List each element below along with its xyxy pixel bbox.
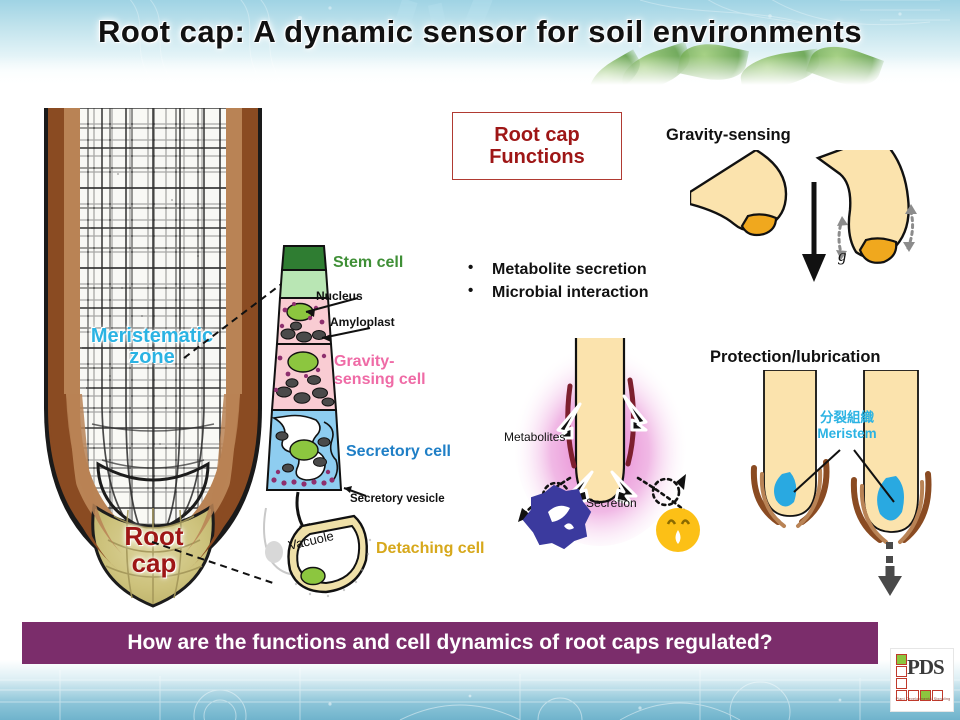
label-amyloplast: Amyloplast: [330, 316, 395, 329]
header-banner: Root cap: A dynamic sensor for soil envi…: [0, 0, 960, 90]
slide: Root cap: A dynamic sensor for soil envi…: [0, 0, 960, 720]
logo-square: [896, 666, 907, 677]
logo-square: [896, 678, 907, 689]
gravity-symbol: g: [838, 246, 847, 266]
label-gravity-sensing-cell: Gravity- sensing cell: [334, 353, 426, 388]
protection-lubrication-illustration: [742, 370, 960, 600]
panel-title-protection-lubrication: Protection/lubrication: [710, 348, 881, 367]
pds-logo: PDS Plant Developmental Signaling: [890, 648, 954, 712]
footer-texture: [0, 660, 960, 720]
functions-title-line2: Functions: [489, 146, 585, 168]
logo-square: [896, 654, 907, 665]
label-nucleus: Nucleus: [316, 290, 363, 303]
functions-title-line1: Root cap: [494, 124, 580, 146]
label-secretory-vesicle: Secretory vesicle: [350, 493, 445, 506]
label-meristem-jp: 分裂組織: [820, 410, 874, 425]
question-banner: How are the functions and cell dynamics …: [22, 622, 878, 664]
label-meristem: 分裂組織 Meristem: [792, 410, 902, 441]
slide-title: Root cap: A dynamic sensor for soil envi…: [0, 14, 960, 50]
label-meristem-en: Meristem: [817, 426, 876, 441]
logo-text: PDS: [907, 655, 944, 680]
logo-tagline: Plant Developmental Signaling: [895, 697, 951, 701]
label-stem-cell: Stem cell: [333, 254, 403, 272]
gravity-sensing-illustration: [690, 150, 960, 295]
secretion-illustration: [488, 338, 724, 553]
header-fade: [0, 56, 960, 90]
label-metabolites: Metabolites: [504, 430, 565, 444]
question-text: How are the functions and cell dynamics …: [127, 631, 772, 655]
root-cap-functions-box: Root cap Functions: [452, 112, 622, 180]
label-secretory-cell: Secretory cell: [346, 443, 451, 461]
label-detaching-cell: Detaching cell: [376, 540, 484, 558]
panel-title-gravity-sensing: Gravity-sensing: [666, 126, 791, 145]
label-secretion: Secretion: [586, 496, 637, 510]
